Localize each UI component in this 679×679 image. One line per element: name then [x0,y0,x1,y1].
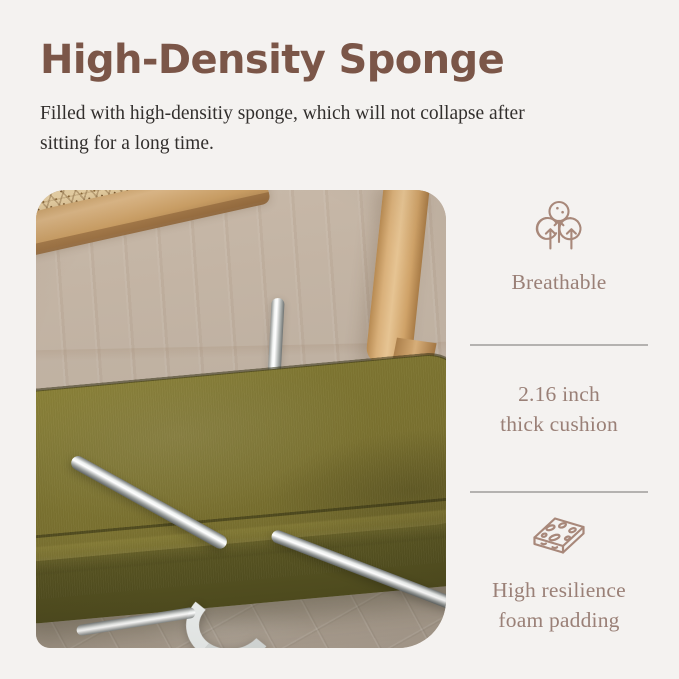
feature-item-foam-padding: High resilience foam padding [462,506,656,635]
foam-block-padding-icon [528,506,590,562]
breathable-trees-airflow-icon [528,198,590,254]
feature-item-breathable: Breathable [462,198,656,298]
feature-label-breathable: Breathable [462,268,656,298]
feature-divider [470,491,648,493]
product-feature-panel: High-Density Sponge Filled with high-den… [0,0,679,679]
product-photo [36,190,446,648]
feature-label-foam-padding: High resilience foam padding [462,576,656,635]
feature-label-thickness: 2.16 inch thick cushion [462,380,656,439]
feature-item-thickness: 2.16 inch thick cushion [462,380,656,439]
photo-vignette [36,190,446,648]
header-block: High-Density Sponge Filled with high-den… [40,38,620,159]
feature-divider [470,344,648,346]
page-title: High-Density Sponge [40,38,620,83]
feature-list: Breathable 2.16 inch thick cushion [462,190,656,648]
page-subtitle: Filled with high-densitiy sponge, which … [40,99,560,159]
